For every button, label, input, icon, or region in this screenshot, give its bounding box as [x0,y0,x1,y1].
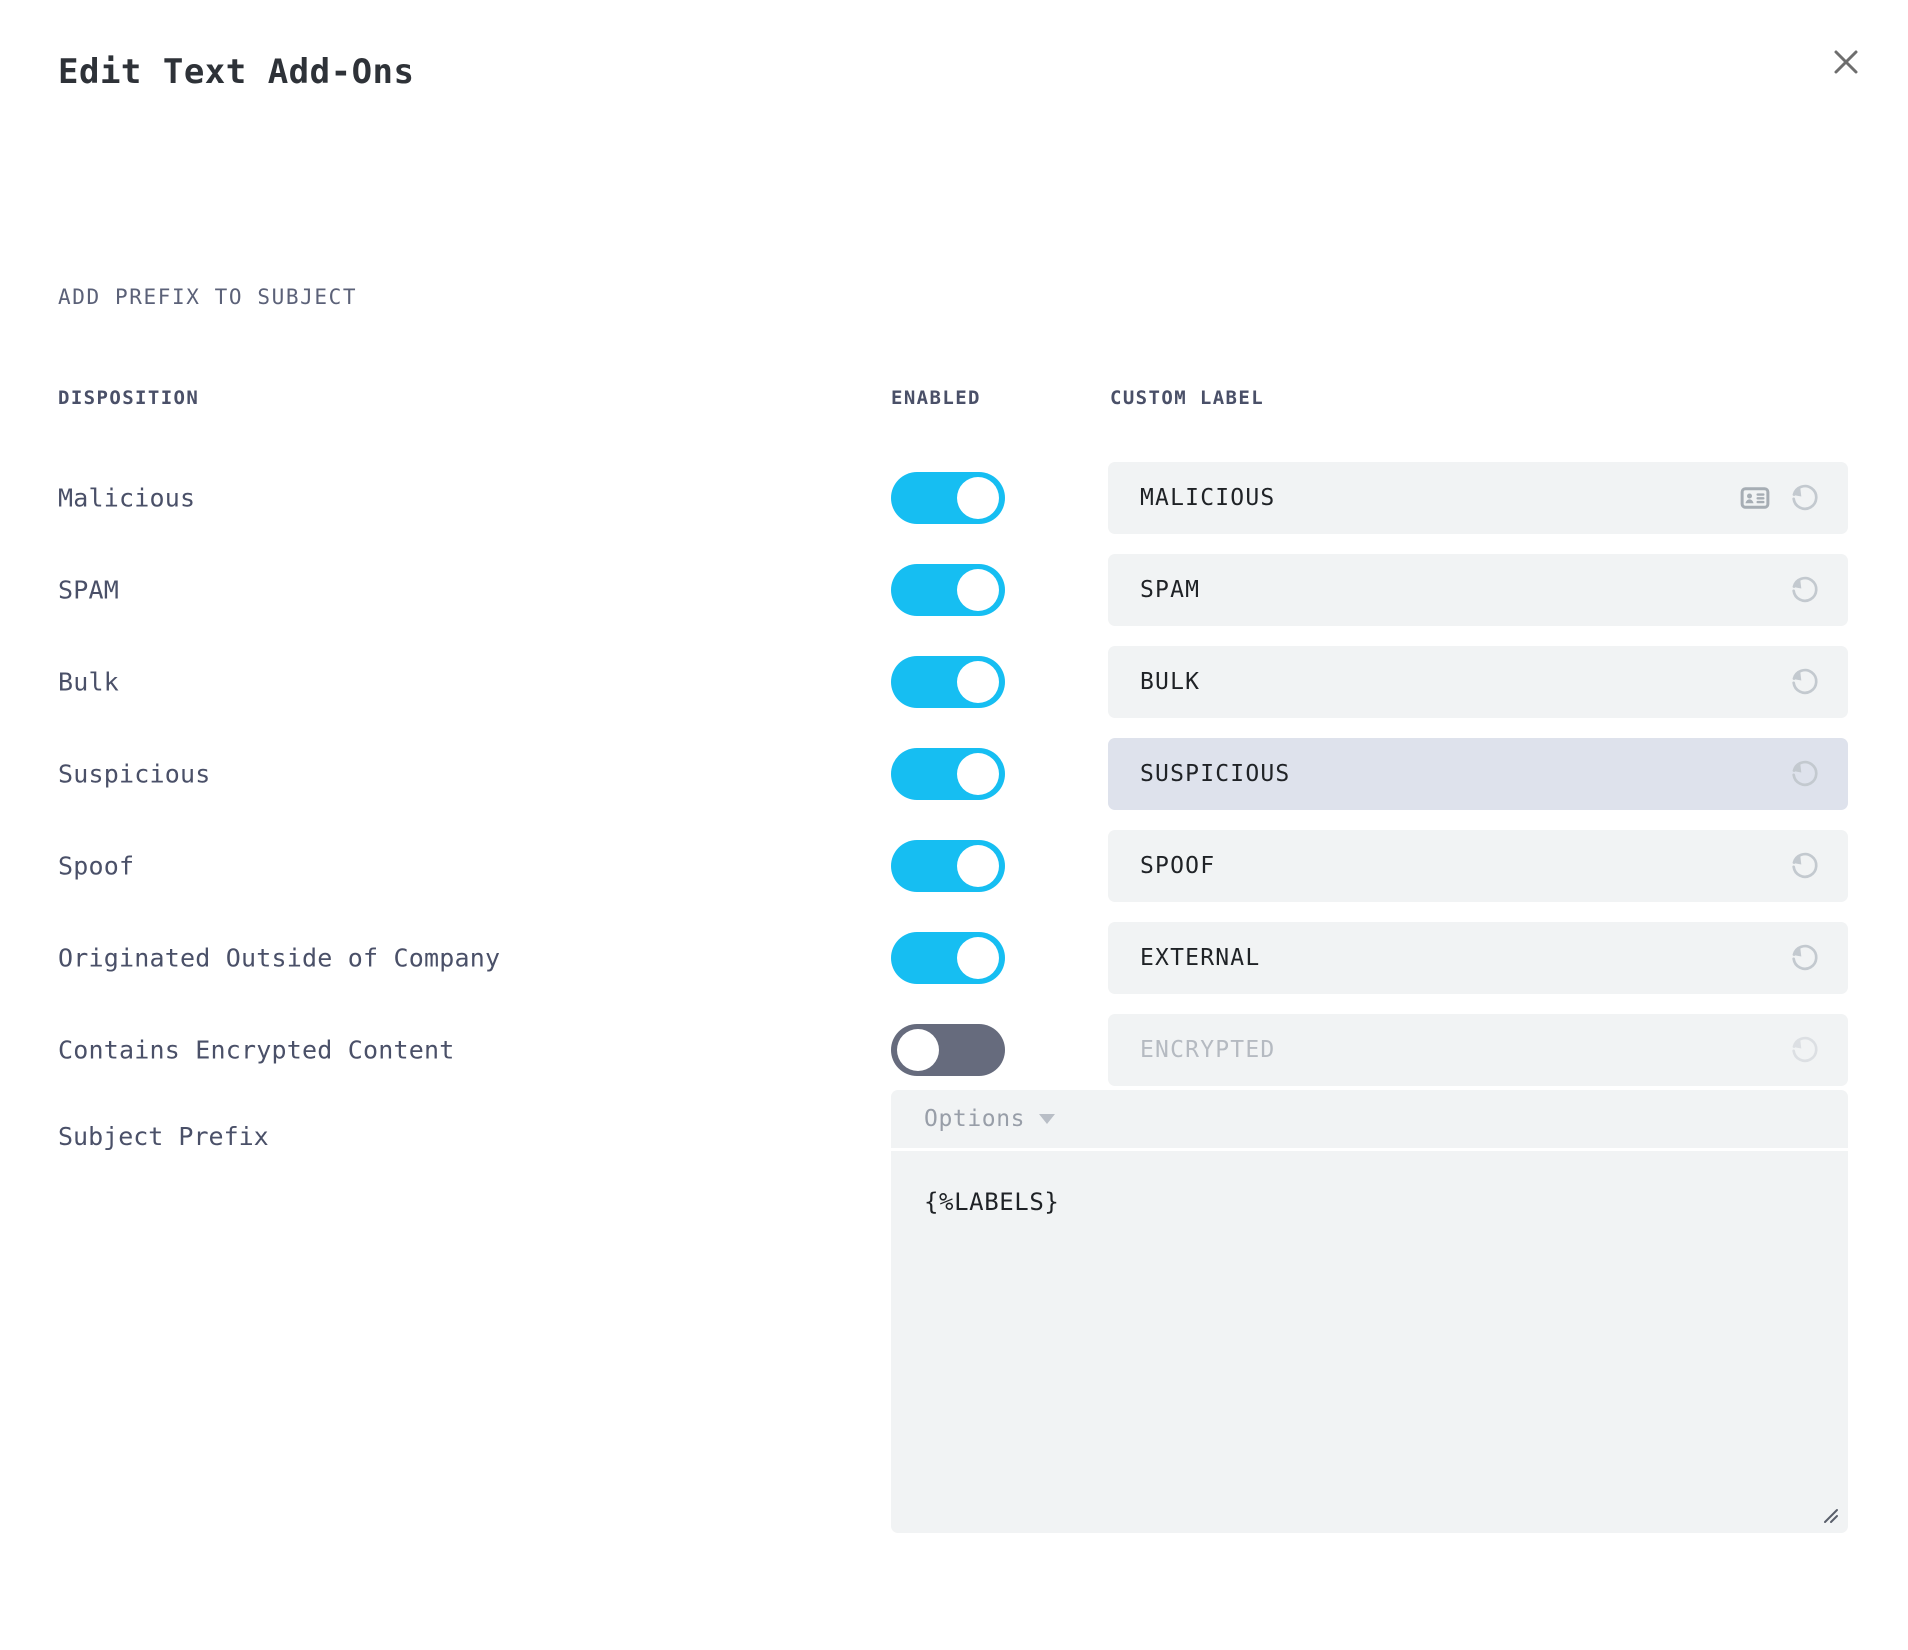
subject-prefix-textarea[interactable]: {%LABELS} [891,1148,1848,1533]
reset-button[interactable] [1788,941,1822,975]
section-title: ADD PREFIX TO SUBJECT [58,285,357,309]
enabled-toggle[interactable] [891,656,1005,708]
disposition-label: Suspicious [58,760,211,789]
resize-grip-icon[interactable] [1817,1502,1839,1524]
reset-button[interactable] [1788,849,1822,883]
custom-label-input[interactable]: SPAM [1108,554,1848,626]
options-dropdown[interactable]: Options [891,1090,1848,1148]
enabled-toggle[interactable] [891,840,1005,892]
disposition-label: Malicious [58,484,195,513]
disposition-label: Contains Encrypted Content [58,1036,455,1065]
chevron-down-icon [1039,1114,1055,1124]
column-header-enabled: ENABLED [891,387,981,409]
input-icon-group [1788,849,1822,883]
enabled-toggle[interactable] [891,748,1005,800]
reset-icon [1788,941,1822,975]
subject-prefix-panel: Options {%LABELS} [891,1090,1848,1533]
reset-button [1788,1033,1822,1067]
column-header-custom-label: CUSTOM LABEL [1110,387,1264,409]
table-row: SuspiciousSUSPICIOUS [0,728,1908,820]
input-icon-group [1738,481,1822,515]
custom-label-input[interactable]: SUSPICIOUS [1108,738,1848,810]
reset-button[interactable] [1788,573,1822,607]
reset-icon [1788,665,1822,699]
disposition-label: Originated Outside of Company [58,944,500,973]
table-row: BulkBULK [0,636,1908,728]
enabled-toggle[interactable] [891,472,1005,524]
subject-prefix-textarea-value: {%LABELS} [924,1188,1059,1216]
toggle-knob [957,937,999,979]
reset-button[interactable] [1788,757,1822,791]
options-dropdown-label: Options [924,1106,1025,1132]
table-row: Originated Outside of CompanyEXTERNAL [0,912,1908,1004]
input-icon-group [1788,1033,1822,1067]
table-row: SpoofSPOOF [0,820,1908,912]
custom-label-input[interactable]: MALICIOUS [1108,462,1848,534]
dialog-header: Edit Text Add-Ons [0,0,1908,150]
custom-label-value: ENCRYPTED [1140,1037,1788,1063]
toggle-knob [957,845,999,887]
reset-button[interactable] [1788,665,1822,699]
table-row: SPAMSPAM [0,544,1908,636]
custom-label-input: ENCRYPTED [1108,1014,1848,1086]
enabled-toggle[interactable] [891,932,1005,984]
disposition-label: Spoof [58,852,134,881]
custom-label-value: SPAM [1140,577,1788,603]
reset-icon [1788,573,1822,607]
custom-label-value: MALICIOUS [1140,485,1738,511]
reset-icon [1788,1033,1822,1067]
toggle-knob [957,661,999,703]
table-row: Contains Encrypted ContentENCRYPTED [0,1004,1908,1096]
toggle-knob [957,569,999,611]
disposition-label: SPAM [58,576,119,605]
page-title: Edit Text Add-Ons [58,52,415,92]
input-icon-group [1788,757,1822,791]
toggle-knob [957,753,999,795]
custom-label-input[interactable]: EXTERNAL [1108,922,1848,994]
input-icon-group [1788,941,1822,975]
reset-icon [1788,757,1822,791]
custom-label-value: BULK [1140,669,1788,695]
toggle-knob [897,1029,939,1071]
custom-label-input[interactable]: SPOOF [1108,830,1848,902]
reset-icon [1788,849,1822,883]
subject-prefix-label: Subject Prefix [58,1122,269,1151]
column-header-disposition: DISPOSITION [58,387,199,409]
custom-label-value: SPOOF [1140,853,1788,879]
custom-label-value: EXTERNAL [1140,945,1788,971]
table-row: MaliciousMALICIOUS [0,452,1908,544]
custom-label-input[interactable]: BULK [1108,646,1848,718]
custom-label-value: SUSPICIOUS [1140,761,1788,787]
contact-card-button[interactable] [1738,481,1772,515]
contact-card-icon [1740,483,1770,513]
reset-button[interactable] [1788,481,1822,515]
disposition-label: Bulk [58,668,119,697]
input-icon-group [1788,573,1822,607]
reset-icon [1788,481,1822,515]
input-icon-group [1788,665,1822,699]
enabled-toggle[interactable] [891,1024,1005,1076]
toggle-knob [957,477,999,519]
disposition-rows: MaliciousMALICIOUSSPAMSPAMBulkBULKSuspic… [0,452,1908,1096]
close-button[interactable] [1822,38,1870,86]
close-icon [1830,46,1862,78]
enabled-toggle[interactable] [891,564,1005,616]
